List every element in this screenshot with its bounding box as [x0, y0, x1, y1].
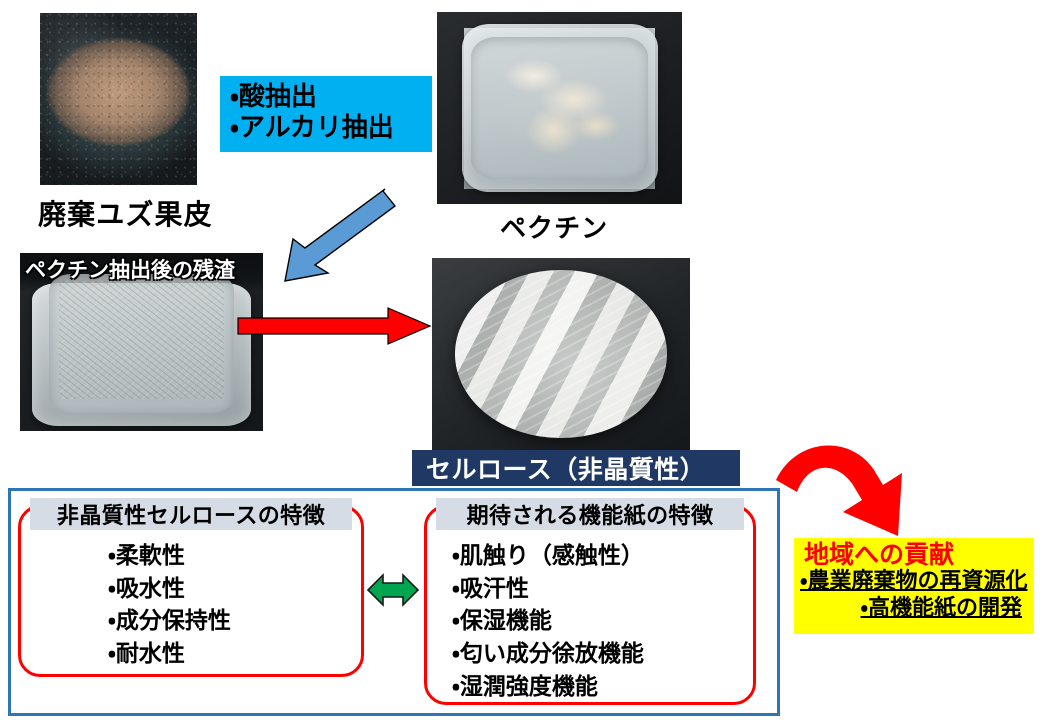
residue-overlay-label: ペクチン抽出後の残渣: [25, 254, 235, 284]
extraction-step-1: ・酸抽出: [230, 82, 422, 113]
amorphous-cellulose-film-photo: [432, 258, 690, 450]
regional-contribution-title: 地域への貢献: [794, 541, 1034, 569]
amorphous-cellulose-card-header: 非晶質性セルロースの特徴: [30, 498, 352, 530]
list-item: ・湿潤強度機能: [452, 671, 644, 704]
list-item: ・肌触り（感触性）: [452, 540, 644, 573]
list-item: ・成分保持性: [108, 605, 231, 638]
red-horizontal-arrow: [236, 306, 432, 346]
cellulose-film-folds: [455, 270, 667, 439]
powder-texture: [40, 13, 197, 185]
pectin-caption: ペクチン: [500, 208, 608, 245]
blue-diagonal-arrow: [275, 185, 400, 285]
extraction-steps-box: ・酸抽出 ・アルカリ抽出: [220, 76, 432, 152]
yuzu-peel-caption: 廃棄ユズ果皮: [38, 193, 213, 233]
regional-contribution-line-2: ・高機能紙の開発: [794, 596, 1034, 623]
green-double-arrow: [366, 568, 420, 612]
red-curved-arrow: [770, 440, 915, 548]
functional-paper-header-text: 期待される機能紙の特徴: [467, 498, 714, 530]
figure-canvas: 廃棄ユズ果皮 ・酸抽出 ・アルカリ抽出 ペクチン ペクチン抽出後の残渣 セルロー…: [0, 0, 1040, 720]
functional-paper-feature-list: ・肌触り（感触性） ・吸汗性 ・保湿機能 ・匂い成分徐放機能 ・湿潤強度機能: [452, 540, 644, 703]
list-item: ・匂い成分徐放機能: [452, 638, 644, 671]
cellulose-label-bar: セルロース（非晶質性）: [412, 450, 740, 486]
regional-contribution-line-1: ・農業廃棄物の再資源化: [794, 569, 1034, 596]
list-item: ・吸水性: [108, 573, 231, 606]
list-item: ・柔軟性: [108, 540, 231, 573]
amorphous-cellulose-header-text: 非晶質性セルロースの特徴: [57, 498, 325, 530]
residue-fiber-mass-shape: [59, 281, 224, 398]
list-item: ・保湿機能: [452, 605, 644, 638]
pectin-in-container-photo: [437, 12, 682, 204]
pectin-mass-shape: [491, 50, 633, 158]
functional-paper-card-header: 期待される機能紙の特徴: [436, 498, 744, 530]
yuzu-peel-powder-photo: [40, 13, 197, 185]
regional-contribution-box: 地域への貢献 ・農業廃棄物の再資源化 ・高機能紙の開発: [794, 538, 1034, 634]
list-item: ・耐水性: [108, 638, 231, 671]
fiber-texture: [59, 281, 224, 398]
amorphous-cellulose-feature-list: ・柔軟性 ・吸水性 ・成分保持性 ・耐水性: [108, 540, 231, 671]
cellulose-label-text: セルロース（非晶質性）: [426, 450, 705, 486]
list-item: ・吸汗性: [452, 573, 644, 606]
extraction-step-2: ・アルカリ抽出: [230, 113, 422, 144]
